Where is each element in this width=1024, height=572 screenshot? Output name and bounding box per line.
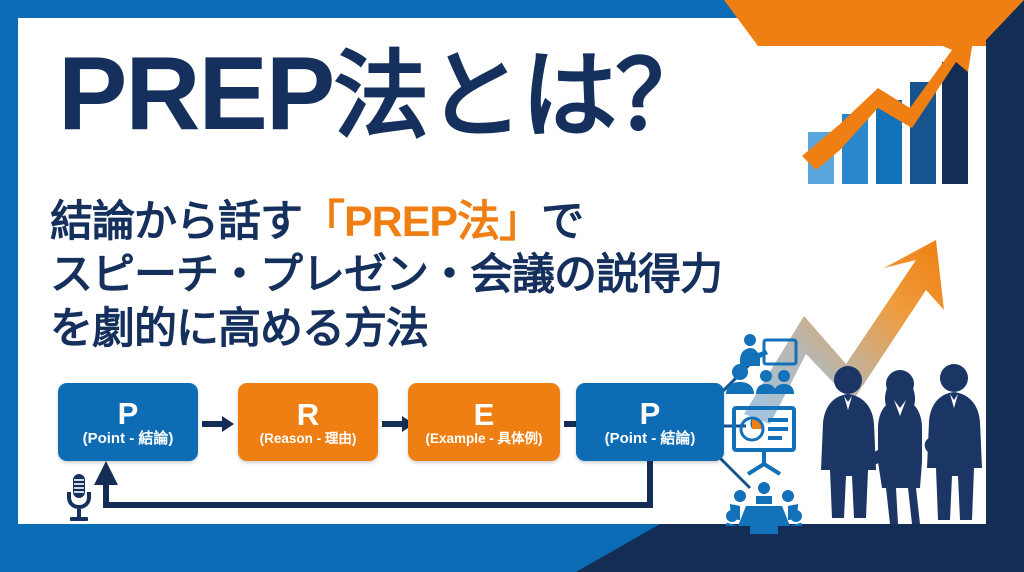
poster: PREP法とは？ 結論から話す「PREP法」で スピーチ・プレゼン・会議の説得力… [0,0,1024,572]
subtitle: 結論から話す「PREP法」で スピーチ・プレゼン・会議の説得力 を劇的に高める方… [50,196,722,356]
subtitle-line1-pre: 結論から話す [50,198,302,246]
subtitle-line-3: を劇的に高める方法 [50,303,722,356]
growth-chart-icon [792,28,982,193]
edge-accent-navy [986,0,1024,572]
subtitle-line1-post: で [541,198,583,246]
business-people-silhouette [808,358,988,543]
headline-tail: とは [427,43,615,150]
headline-question-mark: ？ [615,43,709,150]
page-title: PREP法とは？ [58,42,709,146]
headline-jp: 法 [333,43,427,150]
headline-prep: PREP [58,36,333,152]
subtitle-line-2: スピーチ・プレゼン・会議の説得力 [50,249,722,302]
subtitle-line-1: 結論から話す「PREP法」で [50,196,722,249]
subtitle-line1-accent: 「PREP法」 [302,198,541,246]
flow-feedback-loop-arrow [58,383,758,563]
